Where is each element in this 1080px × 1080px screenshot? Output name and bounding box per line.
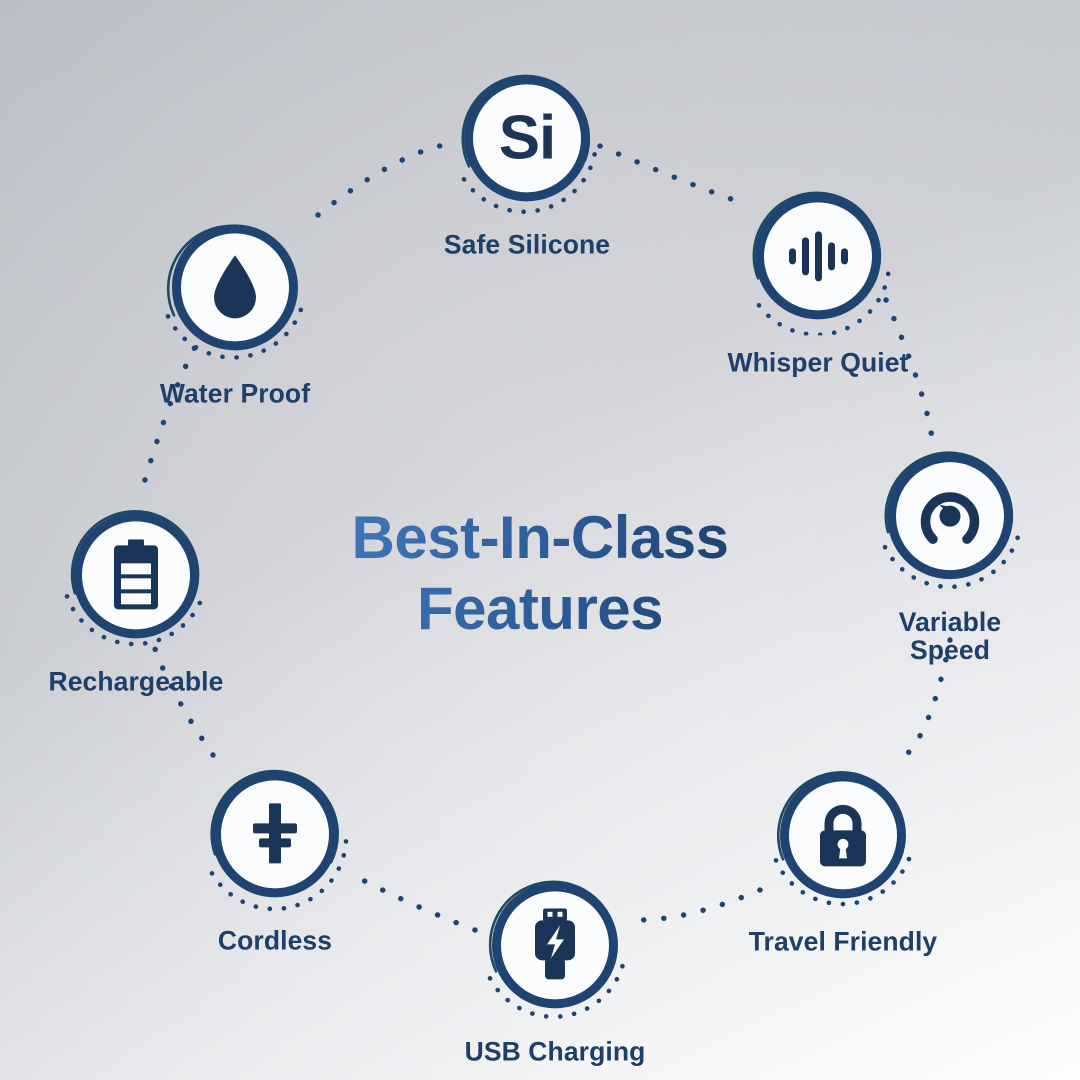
badge-circle [780,772,906,898]
node-label-rechargeable: Rechargeable [0,667,286,695]
badge-circle [492,882,618,1008]
badge-wrapper [871,437,1029,595]
node-label-travel-friendly: Travel Friendly [693,927,993,955]
badge-circle [212,771,338,897]
feature-node-whisper-quiet[interactable]: Whisper Quiet [668,177,968,376]
node-label-usb-charging: USB Charging [405,1037,705,1065]
speed-gauge-icon [916,482,984,550]
node-label-variable-speed: Variable Speed [800,608,1080,665]
badge-circle [887,453,1013,579]
cordless-plug-icon [246,801,304,867]
battery-icon [110,539,162,611]
infographic-canvas: .dotline { fill: none; stroke: #1f4472; … [0,0,1080,1080]
badge-circle: Si [464,75,590,201]
feature-node-usb-charging[interactable]: USB Charging [405,866,705,1065]
badge-wrapper: Si [448,59,606,217]
feature-node-travel-friendly[interactable]: Travel Friendly [693,756,993,955]
node-label-safe-silicone: Safe Silicone [377,230,677,258]
padlock-icon [814,802,872,868]
badge-wrapper [196,755,354,913]
badge-circle [73,512,199,638]
badge-wrapper [476,866,634,1024]
feature-node-rechargeable[interactable]: Rechargeable [0,496,286,695]
node-label-water-proof: Water Proof [85,379,385,407]
page-title: Best-In-Class Features [230,503,850,645]
usb-bolt-icon [530,908,580,982]
badge-wrapper [57,496,215,654]
node-label-cordless: Cordless [125,926,425,954]
badge-circle [755,193,881,319]
feature-node-variable-speed[interactable]: Variable Speed [800,437,1080,665]
feature-node-cordless[interactable]: Cordless [125,755,425,954]
badge-wrapper [739,177,897,335]
node-label-whisper-quiet: Whisper Quiet [668,348,968,376]
badge-wrapper [764,756,922,914]
water-drop-icon [208,253,262,321]
badge-circle [172,224,298,350]
sound-wave-icon [785,228,851,284]
silicone-si-icon: Si [499,107,556,169]
feature-node-water-proof[interactable]: Water Proof [85,208,385,407]
feature-node-safe-silicone[interactable]: Si Safe Silicone [377,59,677,258]
badge-wrapper [156,208,314,366]
